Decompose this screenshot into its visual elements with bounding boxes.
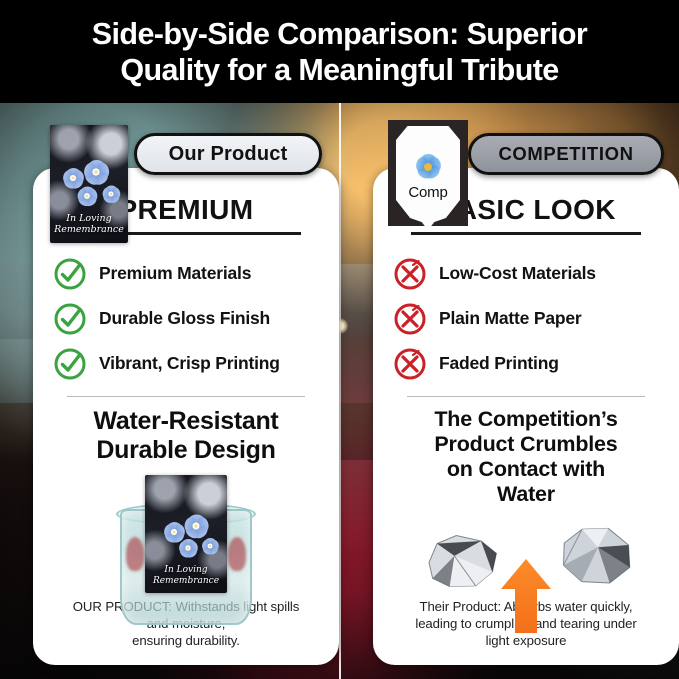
- competition-feature-list: Low-Cost Materials Plain Matte Paper: [389, 251, 663, 386]
- memorial-card-script: In Loving Remembrance: [145, 565, 227, 586]
- center-divider-line: [339, 103, 341, 679]
- crumpled-paper-icon: [554, 521, 637, 590]
- flower-icon: [413, 152, 443, 182]
- list-item-label: Vibrant, Crisp Printing: [99, 353, 280, 374]
- memorial-card-script-line-2: Remembrance: [145, 576, 227, 586]
- competition-statement-line-3: on Contact with: [389, 457, 663, 482]
- list-item: Premium Materials: [49, 251, 323, 296]
- our-product-badge[interactable]: Our Product: [134, 133, 322, 175]
- competition-heading-rule: [411, 232, 641, 235]
- glass-of-water-scene: In Loving Remembrance: [104, 475, 268, 627]
- list-item-label: Faded Printing: [439, 353, 559, 374]
- memorial-card-script-line-1: In Loving: [145, 565, 227, 575]
- competition-tag-shape: Comp: [396, 126, 460, 226]
- cross-circle-icon: [393, 257, 427, 291]
- crumpled-paper-icon: [422, 527, 504, 595]
- our-product-caption-line-3: ensuring durability.: [57, 632, 315, 649]
- competition-panel: BASIC LOOK Low-Cost Materials: [373, 168, 679, 665]
- our-product-feature-list: Premium Materials Durable Gloss Finish: [49, 251, 323, 386]
- list-item-label: Durable Gloss Finish: [99, 308, 270, 329]
- list-item: Durable Gloss Finish: [49, 296, 323, 341]
- glass-reflection-left: [126, 537, 144, 571]
- cross-circle-icon: [393, 302, 427, 336]
- our-product-statement: Water-Resistant Durable Design: [49, 407, 323, 465]
- our-product-statement-rule-top: [67, 396, 305, 397]
- list-item-label: Plain Matte Paper: [439, 308, 581, 329]
- comparison-infographic: Side-by-Side Comparison: Superior Qualit…: [0, 0, 679, 679]
- title-bar: Side-by-Side Comparison: Superior Qualit…: [0, 0, 679, 103]
- our-product-statement-line-1: Water-Resistant: [49, 407, 323, 436]
- forget-me-not-flower-icon: [200, 536, 221, 557]
- competition-tag: Comp: [388, 120, 468, 226]
- competition-statement-line-4: Water: [389, 482, 663, 507]
- check-circle-icon: [53, 302, 87, 336]
- memorial-card-thumb-script: In Loving Remembrance: [50, 214, 128, 236]
- list-item: Faded Printing: [389, 341, 663, 386]
- list-item: Plain Matte Paper: [389, 296, 663, 341]
- title-line-2: Quality for a Meaningful Tribute: [120, 52, 558, 88]
- competition-badge-label: COMPETITION: [498, 143, 633, 165]
- our-product-card-thumbnail: In Loving Remembrance: [50, 125, 128, 243]
- title-line-1: Side-by-Side Comparison: Superior: [92, 16, 587, 52]
- list-item: Vibrant, Crisp Printing: [49, 341, 323, 386]
- our-product-statement-line-2: Durable Design: [49, 436, 323, 465]
- list-item: Low-Cost Materials: [389, 251, 663, 296]
- our-product-badge-label: Our Product: [169, 143, 288, 166]
- forget-me-not-flower-icon: [176, 536, 199, 559]
- competition-tag-label: Comp: [408, 184, 447, 201]
- glass-reflection-right: [228, 537, 246, 571]
- upward-arrow-icon: [499, 557, 553, 635]
- competition-media: [389, 511, 663, 598]
- memorial-card-thumb: In Loving Remembrance: [50, 125, 128, 243]
- competition-statement-rule-top: [407, 396, 645, 397]
- competition-statement: The Competition’s Product Crumbles on Co…: [389, 407, 663, 507]
- memorial-card-in-glass: In Loving Remembrance: [145, 475, 227, 593]
- our-product-media: In Loving Remembrance: [49, 469, 323, 598]
- competition-statement-line-1: The Competition’s: [389, 407, 663, 432]
- memorial-card-thumb-script-line-2: Remembrance: [50, 225, 128, 236]
- competition-badge[interactable]: COMPETITION: [468, 133, 664, 175]
- check-circle-icon: [53, 257, 87, 291]
- list-item-label: Premium Materials: [99, 263, 251, 284]
- check-circle-icon: [53, 347, 87, 381]
- forget-me-not-flower-icon: [100, 183, 122, 205]
- list-item-label: Low-Cost Materials: [439, 263, 596, 284]
- crumpled-paper-scene: [389, 517, 663, 637]
- cross-circle-icon: [393, 347, 427, 381]
- competition-statement-line-2: Product Crumbles: [389, 432, 663, 457]
- forget-me-not-flower-icon: [75, 184, 100, 209]
